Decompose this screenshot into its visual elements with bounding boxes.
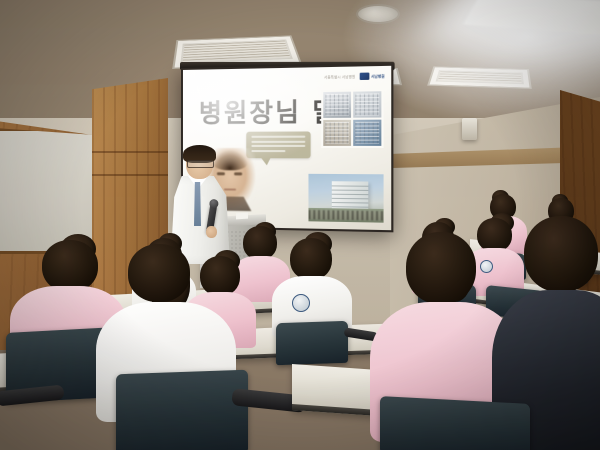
presenter-hand bbox=[206, 226, 217, 238]
photo-crowd bbox=[308, 210, 383, 221]
attendee-head bbox=[243, 226, 277, 260]
attendee-head bbox=[477, 218, 512, 252]
slide-main-photo bbox=[308, 174, 383, 223]
speech-bubble-text bbox=[251, 136, 305, 155]
attendee-head bbox=[406, 232, 476, 304]
attendee-head bbox=[524, 216, 598, 292]
uniform-badge bbox=[480, 260, 493, 273]
slide-photo-grid bbox=[321, 89, 383, 148]
attendee-head bbox=[200, 256, 240, 296]
portrait-eye-right bbox=[234, 172, 242, 175]
chair bbox=[276, 321, 348, 366]
slide-photo-4 bbox=[353, 120, 381, 146]
slide-photo-1 bbox=[323, 92, 351, 118]
podium-papers bbox=[236, 213, 248, 220]
chair bbox=[116, 370, 248, 450]
presenter-glasses-icon bbox=[187, 160, 214, 168]
presenter-tie bbox=[194, 182, 201, 226]
slide-photo-3 bbox=[323, 120, 351, 146]
speech-bubble bbox=[246, 131, 310, 158]
logo-mark-icon bbox=[360, 73, 370, 80]
attendee-head bbox=[42, 240, 98, 292]
attendee-head bbox=[290, 238, 332, 280]
attendee-head bbox=[128, 244, 190, 302]
wall-speaker-icon bbox=[462, 118, 477, 140]
slide-photo-2 bbox=[353, 91, 381, 117]
shoulder-emblem bbox=[292, 294, 310, 312]
hospital-building bbox=[332, 181, 369, 210]
slide-header: 서울특별시 서남병원 서남병원 bbox=[324, 72, 385, 80]
chair bbox=[380, 396, 530, 450]
slide-header-text: 서울특별시 서남병원 bbox=[324, 74, 355, 80]
hospital-logo: 서남병원 bbox=[360, 72, 385, 80]
conference-room-photo: 서울특별시 서남병원 서남병원 병원장님 말씀 bbox=[0, 0, 600, 450]
logo-text: 서남병원 bbox=[371, 73, 385, 78]
